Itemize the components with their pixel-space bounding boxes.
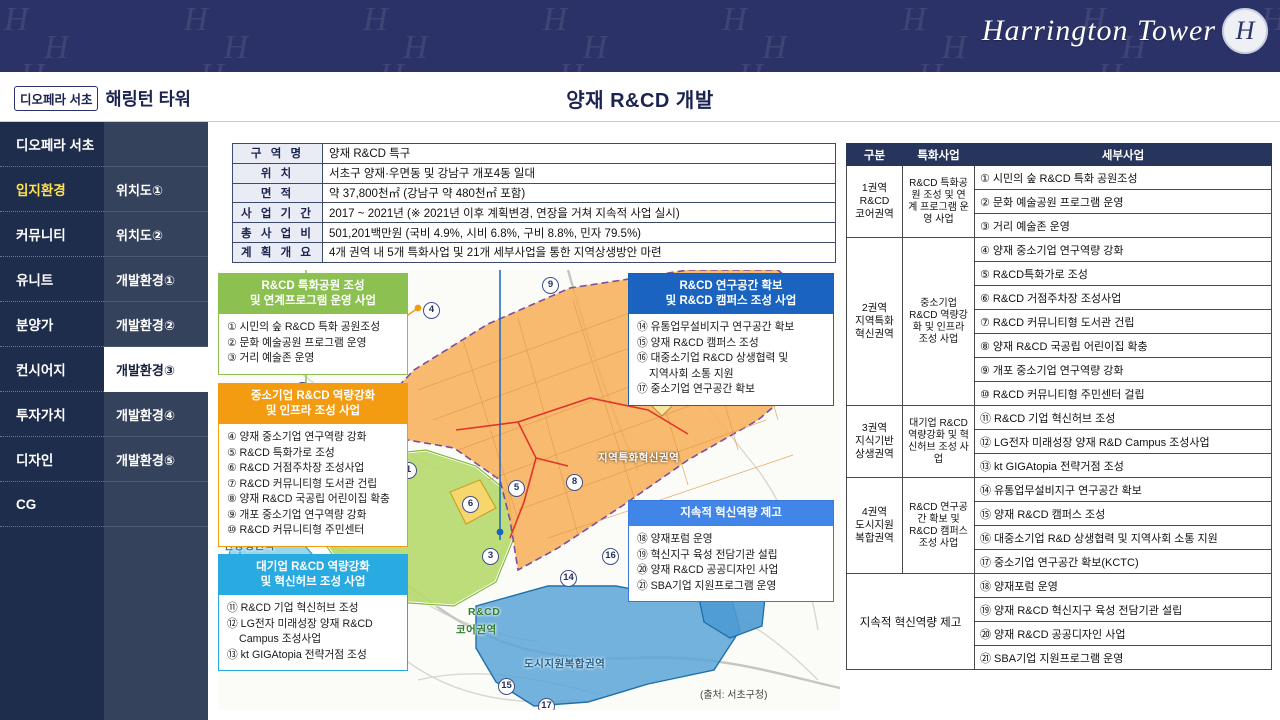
callout-green-title-line1: R&CD 특화공원 조성 xyxy=(223,279,403,294)
projects-table-detail: ⑩ R&CD 커뮤니티형 주민센터 걸립 xyxy=(975,382,1272,406)
sidebar-nav-label: 컨시어지 xyxy=(16,359,66,379)
projects-table-detail: ⑧ 양재 R&CD 국공립 어린이집 확충 xyxy=(975,334,1272,358)
projects-table-detail: ⑤ R&CD특화가로 조성 xyxy=(975,262,1272,286)
map-source-note: (출처: 서초구청) xyxy=(700,686,767,701)
callout-item: ⑬ kt GIGAtopia 전략거점 조성 xyxy=(227,648,399,664)
table-row: 3권역지식기반상생권역대기업 R&CD 역량강화 및 혁신허브 조성 사업⑪ R… xyxy=(847,406,1272,430)
zone-line: 상생권역 xyxy=(852,448,897,461)
zone-line: 복합권역 xyxy=(852,532,897,545)
projects-table-detail: ⑰ 중소기업 연구공간 확보(KCTC) xyxy=(975,550,1272,574)
callout-item: ⑤ R&CD 특화가로 조성 xyxy=(227,446,399,462)
projects-table-zone: 4권역도시지원복합권역 xyxy=(847,478,903,574)
sidebar-sub-item-0 xyxy=(104,122,208,167)
sidebar-nav-label: 커뮤니티 xyxy=(16,224,66,244)
callout-darkblue-research: R&CD 연구공간 확보 및 R&CD 캠퍼스 조성 사업 ⑭ 유통업무설비지구… xyxy=(628,273,834,406)
projects-table-detail: ⑮ 양재 R&CD 캠퍼스 조성 xyxy=(975,502,1272,526)
sidebar-nav-column: 디오페라 서초입지환경커뮤니티유니트분양가컨시어지투자가치디자인CG xyxy=(0,122,104,720)
sidebar-sub-label: 개발환경③ xyxy=(116,360,175,379)
sidebar-nav-item-6[interactable]: 투자가치 xyxy=(0,392,104,437)
sidebar-nav-item-1[interactable]: 입지환경 xyxy=(0,167,104,212)
callout-item: ④ 양재 중소기업 연구역량 강화 xyxy=(227,430,399,446)
info-row-label: 사 업 기 간 xyxy=(233,203,323,223)
info-row-value: 양재 R&CD 특구 xyxy=(323,144,836,164)
info-row: 면 적약 37,800천㎡ (강남구 약 480천㎡ 포함) xyxy=(233,183,836,203)
sidebar-sub-label: 위치도② xyxy=(116,225,163,244)
callout-darkblue-title-line1: R&CD 연구공간 확보 xyxy=(633,279,829,294)
sidebar-sub-item-3[interactable]: 개발환경① xyxy=(104,257,208,302)
sidebar: 디오페라 서초입지환경커뮤니티유니트분양가컨시어지투자가치디자인CG 위치도①위… xyxy=(0,122,208,720)
info-row-value: 서초구 양재·우면동 및 강남구 개포4동 일대 xyxy=(323,163,836,183)
sidebar-nav-label: 분양가 xyxy=(16,314,53,334)
sidebar-nav-item-7[interactable]: 디자인 xyxy=(0,437,104,482)
callout-item: ⑦ R&CD 커뮤니티형 도서관 건립 xyxy=(227,477,399,493)
callout-orange-title: 중소기업 R&CD 역량강화 및 인프라 조성 사업 xyxy=(219,384,407,424)
brand-logo: Harrington Tower H xyxy=(982,8,1268,54)
info-row: 위 치서초구 양재·우면동 및 강남구 개포4동 일대 xyxy=(233,163,836,183)
projects-table-detail: ⑨ 개포 중소기업 연구역량 강화 xyxy=(975,358,1272,382)
info-row-label: 면 적 xyxy=(233,183,323,203)
callout-item: ⑧ 양재 R&CD 국공립 어린이집 확충 xyxy=(227,492,399,508)
callout-item: Campus 조성사업 xyxy=(227,632,399,648)
zone-line: 4권역 xyxy=(852,506,897,519)
callout-item: ① 시민의 숲 R&CD 특화 공원조성 xyxy=(227,320,399,336)
table-row: 2권역지역특화혁신권역중소기업 R&CD 역량강화 및 인프라 조성 사업④ 양… xyxy=(847,238,1272,262)
projects-table-detail: ⑱ 양재포럼 운영 xyxy=(975,574,1272,598)
projects-table-continuous-label: 지속적 혁신역량 제고 xyxy=(847,574,975,670)
sidebar-nav-label: 디오페라 서초 xyxy=(16,134,94,154)
header-band: H H H H H H H H H H H H H H H H H H H H … xyxy=(0,0,1280,72)
info-row-label: 계 획 개 요 xyxy=(233,242,323,262)
projects-table-zone: 1권역R&CD코어권역 xyxy=(847,166,903,238)
zone-line: R&CD xyxy=(852,195,897,208)
sidebar-sub-label: 위치도① xyxy=(116,180,163,199)
callout-lightblue-title: 대기업 R&CD 역량강화 및 혁신허브 조성 사업 xyxy=(219,555,407,595)
sidebar-nav-item-4[interactable]: 분양가 xyxy=(0,302,104,347)
projects-table-detail: ⑪ R&CD 기업 혁신허브 조성 xyxy=(975,406,1272,430)
callout-item: ⑭ 유통업무설비지구 연구공간 확보 xyxy=(637,320,825,336)
projects-table-detail: ⑬ kt GIGAtopia 전략거점 조성 xyxy=(975,454,1272,478)
projects-table-zone: 2권역지역특화혁신권역 xyxy=(847,238,903,406)
zone-line: 코어권역 xyxy=(852,208,897,221)
callout-orange-items: ④ 양재 중소기업 연구역량 강화 ⑤ R&CD 특화가로 조성 ⑥ R&CD … xyxy=(219,424,407,546)
callout-item: ⑨ 개포 중소기업 연구역량 강화 xyxy=(227,508,399,524)
projects-table-detail: ② 문화 예술공원 프로그램 운영 xyxy=(975,190,1272,214)
callout-continuous-title: 지속적 혁신역량 제고 xyxy=(629,501,833,526)
callout-lightblue-title-line1: 대기업 R&CD 역량강화 xyxy=(223,560,403,575)
projects-table-detail: ③ 거리 예술존 운영 xyxy=(975,214,1272,238)
info-row-value: 4개 권역 내 5개 특화사업 및 21개 세부사업을 통한 지역상생방안 마련 xyxy=(323,242,836,262)
sidebar-nav-label: 디자인 xyxy=(16,449,53,469)
sidebar-sub-item-1[interactable]: 위치도① xyxy=(104,167,208,212)
callout-item: ⑥ R&CD 거점주차장 조성사업 xyxy=(227,461,399,477)
callout-orange-title-line1: 중소기업 R&CD 역량강화 xyxy=(223,389,403,404)
sidebar-nav-label: CG xyxy=(16,497,36,512)
map-zone-label-core-line2: 코어권역 xyxy=(456,622,497,637)
projects-table-specialty: 중소기업 R&CD 역량강화 및 인프라 조성 사업 xyxy=(903,238,975,406)
brand-monogram-icon: H xyxy=(1222,8,1268,54)
sidebar-sub-label: 개발환경⑤ xyxy=(116,450,175,469)
info-row-value: 501,201백만원 (국비 4.9%, 시비 6.8%, 구비 8.8%, 민… xyxy=(323,223,836,243)
callout-item: 지역사회 소통 지원 xyxy=(637,367,825,383)
map-marker-3[interactable]: 3 xyxy=(482,548,499,565)
projects-table-header-0: 구분 xyxy=(847,144,903,166)
sidebar-sub-label: 개발환경② xyxy=(116,315,175,334)
title-row: 디오페라 서초 해링턴 타워 양재 R&CD 개발 xyxy=(0,72,1280,122)
projects-table-detail: ④ 양재 중소기업 연구역량 강화 xyxy=(975,238,1272,262)
callout-item: ⑫ LG전자 미래성장 양재 R&CD xyxy=(227,617,399,633)
sidebar-nav-label: 입지환경 xyxy=(16,179,66,199)
map-zone-label-urban-support: 도시지원복합권역 xyxy=(524,656,605,671)
projects-table-header-1: 특화사업 xyxy=(903,144,975,166)
callout-orange-title-line2: 및 인프라 조성 사업 xyxy=(223,404,403,419)
map-zone-label-core-line1: R&CD xyxy=(468,606,500,618)
projects-table-detail: ⑫ LG전자 미래성장 양재 R&D Campus 조성사업 xyxy=(975,430,1272,454)
projects-table-detail: ① 시민의 숲 R&CD 특화 공원조성 xyxy=(975,166,1272,190)
map-zone-label-innovation: 지역특화혁신권역 xyxy=(598,450,679,465)
zone-line: 1권역 xyxy=(852,182,897,195)
sidebar-nav-label: 유니트 xyxy=(16,269,53,289)
callout-continuous-innovation: 지속적 혁신역량 제고 ⑱ 양재포럼 운영 ⑲ 혁신지구 육성 전담기관 설립 … xyxy=(628,500,834,602)
callout-item: ⑱ 양재포럼 운영 xyxy=(637,532,825,548)
info-row: 계 획 개 요4개 권역 내 5개 특화사업 및 21개 세부사업을 통한 지역… xyxy=(233,242,836,262)
projects-table-detail: ⑥ R&CD 거점주차장 조성사업 xyxy=(975,286,1272,310)
map-marker-4[interactable]: 4 xyxy=(423,302,440,319)
projects-table-detail: ⑦ R&CD 커뮤니티형 도서관 건립 xyxy=(975,310,1272,334)
overview-info-table: 구 역 명양재 R&CD 특구위 치서초구 양재·우면동 및 강남구 개포4동 … xyxy=(232,143,836,263)
callout-item: ⑮ 양재 R&CD 캠퍼스 조성 xyxy=(637,336,825,352)
callout-orange-sme: 중소기업 R&CD 역량강화 및 인프라 조성 사업 ④ 양재 중소기업 연구역… xyxy=(218,383,408,547)
sidebar-sub-label: 개발환경④ xyxy=(116,405,175,424)
sidebar-nav-item-2[interactable]: 커뮤니티 xyxy=(0,212,104,257)
callout-green-title: R&CD 특화공원 조성 및 연계프로그램 운영 사업 xyxy=(219,274,407,314)
sidebar-sub-item-7[interactable]: 개발환경⑤ xyxy=(104,437,208,482)
callout-continuous-items: ⑱ 양재포럼 운영 ⑲ 혁신지구 육성 전담기관 설립 ⑳ 양재 R&CD 공공… xyxy=(629,526,833,601)
zone-line: 지역특화 xyxy=(852,315,897,328)
sidebar-sub-item-6[interactable]: 개발환경④ xyxy=(104,392,208,437)
map-marker-8[interactable]: 8 xyxy=(566,474,583,491)
info-row-label: 위 치 xyxy=(233,163,323,183)
map-marker-14[interactable]: 14 xyxy=(560,570,577,587)
map-marker-6[interactable]: 6 xyxy=(462,496,479,513)
callout-green-items: ① 시민의 숲 R&CD 특화 공원조성 ② 문화 예술공원 프로그램 운영 ③… xyxy=(219,314,407,374)
zone-line: 2권역 xyxy=(852,302,897,315)
table-row: 1권역R&CD코어권역R&CD 특화공원 조성 및 연계 프로그램 운영 사업①… xyxy=(847,166,1272,190)
callout-item: ⑪ R&CD 기업 혁신허브 조성 xyxy=(227,601,399,617)
projects-table-detail: ⑳ 양재 R&CD 공공디자인 사업 xyxy=(975,622,1272,646)
table-row: 4권역도시지원복합권역R&CD 연구공간 확보 및 R&CD 캠퍼스 조성 사업… xyxy=(847,478,1272,502)
map-marker-17[interactable]: 17 xyxy=(538,698,555,710)
callout-darkblue-title: R&CD 연구공간 확보 및 R&CD 캠퍼스 조성 사업 xyxy=(629,274,833,314)
zone-line: 도시지원 xyxy=(852,519,897,532)
projects-table-specialty: R&CD 연구공간 확보 및 R&CD 캠퍼스 조성 사업 xyxy=(903,478,975,574)
sidebar-nav-item-0[interactable]: 디오페라 서초 xyxy=(0,122,104,167)
callout-item: ⑰ 중소기업 연구공간 확보 xyxy=(637,382,825,398)
sidebar-sub-label: 개발환경① xyxy=(116,270,175,289)
info-row: 사 업 기 간2017 ~ 2021년 (※ 2021년 이후 계획변경, 연장… xyxy=(233,203,836,223)
sidebar-sub-item-2[interactable]: 위치도② xyxy=(104,212,208,257)
sidebar-sub-item-8 xyxy=(104,482,208,527)
info-row-label: 총 사 업 비 xyxy=(233,223,323,243)
callout-item: ③ 거리 예술존 운영 xyxy=(227,351,399,367)
sidebar-nav-label: 투자가치 xyxy=(16,404,66,424)
projects-table-header-2: 세부사업 xyxy=(975,144,1272,166)
zone-line: 3권역 xyxy=(852,422,897,435)
projects-table: 구분특화사업세부사업 1권역R&CD코어권역R&CD 특화공원 조성 및 연계 … xyxy=(846,143,1272,670)
sidebar-sub-item-5[interactable]: 개발환경③ xyxy=(104,347,208,392)
callout-green-title-line2: 및 연계프로그램 운영 사업 xyxy=(223,294,403,309)
callout-item: ② 문화 예술공원 프로그램 운영 xyxy=(227,336,399,352)
projects-table-detail: ㉑ SBA기업 지원프로그램 운영 xyxy=(975,646,1272,670)
map-marker-16[interactable]: 16 xyxy=(602,548,619,565)
slide-root: H H H H H H H H H H H H H H H H H H H H … xyxy=(0,0,1280,720)
projects-table-detail: ⑭ 유통업무설비지구 연구공간 확보 xyxy=(975,478,1272,502)
info-row: 구 역 명양재 R&CD 특구 xyxy=(233,144,836,164)
header-pattern-row: H H H H H H H H H H H H xyxy=(0,56,1280,72)
callout-item: ⑲ 혁신지구 육성 전담기관 설립 xyxy=(637,548,825,564)
sidebar-nav-item-8[interactable]: CG xyxy=(0,482,104,527)
sidebar-nav-item-5[interactable]: 컨시어지 xyxy=(0,347,104,392)
map-marker-9[interactable]: 9 xyxy=(542,277,559,294)
callout-green-park: R&CD 특화공원 조성 및 연계프로그램 운영 사업 ① 시민의 숲 R&CD… xyxy=(218,273,408,375)
callout-darkblue-items: ⑭ 유통업무설비지구 연구공간 확보 ⑮ 양재 R&CD 캠퍼스 조성 ⑯ 대중… xyxy=(629,314,833,405)
projects-table-specialty: R&CD 특화공원 조성 및 연계 프로그램 운영 사업 xyxy=(903,166,975,238)
info-row-value: 약 37,800천㎡ (강남구 약 480천㎡ 포함) xyxy=(323,183,836,203)
table-row: 지속적 혁신역량 제고⑱ 양재포럼 운영 xyxy=(847,574,1272,598)
sidebar-sub-column: 위치도①위치도②개발환경①개발환경②개발환경③개발환경④개발환경⑤ xyxy=(104,122,208,720)
map-marker-15[interactable]: 15 xyxy=(498,678,515,695)
callout-lightblue-title-line2: 및 혁신허브 조성 사업 xyxy=(223,575,403,590)
callout-item: ㉑ SBA기업 지원프로그램 운영 xyxy=(637,579,825,595)
projects-table-specialty: 대기업 R&CD 역량강화 및 혁신허브 조성 사업 xyxy=(903,406,975,478)
callout-darkblue-title-line2: 및 R&CD 캠퍼스 조성 사업 xyxy=(633,294,829,309)
callout-item: ⑳ 양재 R&CD 공공디자인 사업 xyxy=(637,563,825,579)
zone-line: 혁신권역 xyxy=(852,328,897,341)
sidebar-sub-item-4[interactable]: 개발환경② xyxy=(104,302,208,347)
sidebar-nav-item-3[interactable]: 유니트 xyxy=(0,257,104,302)
projects-table-detail: ⑯ 대중소기업 R&D 상생협력 및 지역사회 소통 지원 xyxy=(975,526,1272,550)
callout-item: ⑯ 대중소기업 R&CD 상생협력 및 xyxy=(637,351,825,367)
callout-item: ⑩ R&CD 커뮤니티형 주민센터 xyxy=(227,523,399,539)
callout-lightblue-conglomerate: 대기업 R&CD 역량강화 및 혁신허브 조성 사업 ⑪ R&CD 기업 혁신허… xyxy=(218,554,408,671)
callout-lightblue-items: ⑪ R&CD 기업 혁신허브 조성 ⑫ LG전자 미래성장 양재 R&CD Ca… xyxy=(219,595,407,670)
projects-table-detail: ⑲ 양재 R&CD 혁신지구 육성 전담기관 설립 xyxy=(975,598,1272,622)
brand-name: Harrington Tower xyxy=(982,14,1216,48)
info-row-value: 2017 ~ 2021년 (※ 2021년 이후 계획변경, 연장을 거쳐 지속… xyxy=(323,203,836,223)
projects-table-zone: 3권역지식기반상생권역 xyxy=(847,406,903,478)
info-row-label: 구 역 명 xyxy=(233,144,323,164)
page-title: 양재 R&CD 개발 xyxy=(0,84,1280,113)
zone-line: 지식기반 xyxy=(852,435,897,448)
info-row: 총 사 업 비501,201백만원 (국비 4.9%, 시비 6.8%, 구비 … xyxy=(233,223,836,243)
map-marker-5[interactable]: 5 xyxy=(508,480,525,497)
